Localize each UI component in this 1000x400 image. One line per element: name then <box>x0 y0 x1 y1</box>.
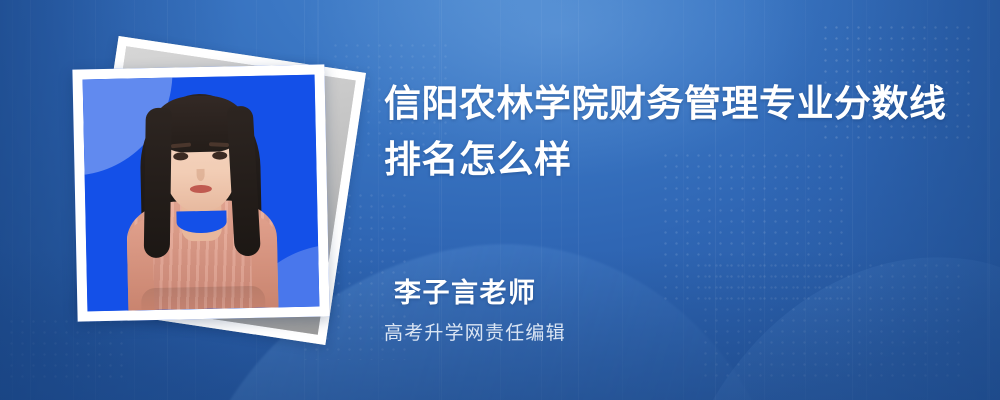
author-role: 高考升学网责任编辑 <box>384 318 566 345</box>
author-name: 李子言老师 <box>394 271 537 310</box>
author-photo-stack <box>55 45 365 360</box>
page-title-line-2: 排名怎么样 <box>384 132 954 188</box>
portrait-nose <box>196 169 204 181</box>
page-title-line-1: 信阳农林学院财务管理专业分数线 <box>384 76 954 132</box>
author-photo-frame <box>72 64 329 321</box>
portrait-illustration <box>83 75 320 312</box>
banner-text-content: 信阳农林学院财务管理专业分数线 排名怎么样 李子言老师 高考升学网责任编辑 <box>384 0 974 400</box>
author-photo <box>83 75 320 312</box>
portrait-waist-shadow <box>141 286 265 311</box>
portrait-hair-side-left <box>144 108 172 258</box>
page-title: 信阳农林学院财务管理专业分数线 排名怎么样 <box>384 76 954 188</box>
article-header-banner: 信阳农林学院财务管理专业分数线 排名怎么样 李子言老师 高考升学网责任编辑 <box>0 0 1000 400</box>
